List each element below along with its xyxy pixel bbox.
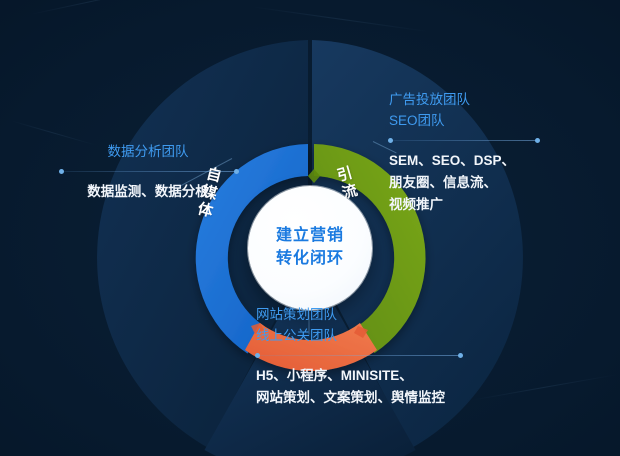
callout-left: 数据分析团队 数据监测、数据分析 [58, 142, 238, 203]
callout-bottom-rule [256, 355, 462, 356]
callout-right: 广告投放团队 SEO团队 SEM、SEO、DSP、 朋友圈、信息流、 视频推广 [389, 90, 539, 215]
rule-dot-icon [535, 138, 540, 143]
callout-left-team: 数据分析团队 [58, 142, 238, 163]
callout-bottom: 网站策划团队 线上公关团队 H5、小程序、MINISITE、 网站策划、文案策划… [256, 305, 462, 409]
hub-line-1: 建立营销 [276, 225, 344, 248]
callout-right-team-2: SEO团队 [389, 111, 539, 132]
callout-bottom-team-2: 线上公关团队 [256, 326, 462, 347]
rule-dot-icon [255, 353, 260, 358]
center-hub: 建立营销 转化闭环 [248, 186, 372, 310]
callout-bottom-detail-1: H5、小程序、MINISITE、 [256, 365, 462, 387]
callout-right-rule [389, 140, 539, 141]
background-streak [250, 6, 428, 32]
callout-left-rule [60, 171, 238, 172]
infographic-canvas: 自媒体 引流 转 化 建立营销 转化闭环 数据分析团队 数据监测、数据分析 广告… [0, 0, 620, 456]
callout-right-team-1: 广告投放团队 [389, 90, 539, 111]
rule-dot-icon [388, 138, 393, 143]
rule-dot-icon [234, 169, 239, 174]
callout-bottom-detail-2: 网站策划、文案策划、舆情监控 [256, 387, 462, 409]
callout-left-detail: 数据监测、数据分析 [58, 181, 238, 203]
rule-dot-icon [59, 169, 64, 174]
callout-bottom-team-1: 网站策划团队 [256, 305, 462, 326]
callout-right-detail-2: 朋友圈、信息流、 [389, 172, 539, 194]
background-streak [30, 0, 148, 15]
callout-right-detail-3: 视频推广 [389, 194, 539, 216]
hub-line-2: 转化闭环 [276, 248, 344, 271]
rule-dot-icon [458, 353, 463, 358]
callout-right-detail-1: SEM、SEO、DSP、 [389, 150, 539, 172]
